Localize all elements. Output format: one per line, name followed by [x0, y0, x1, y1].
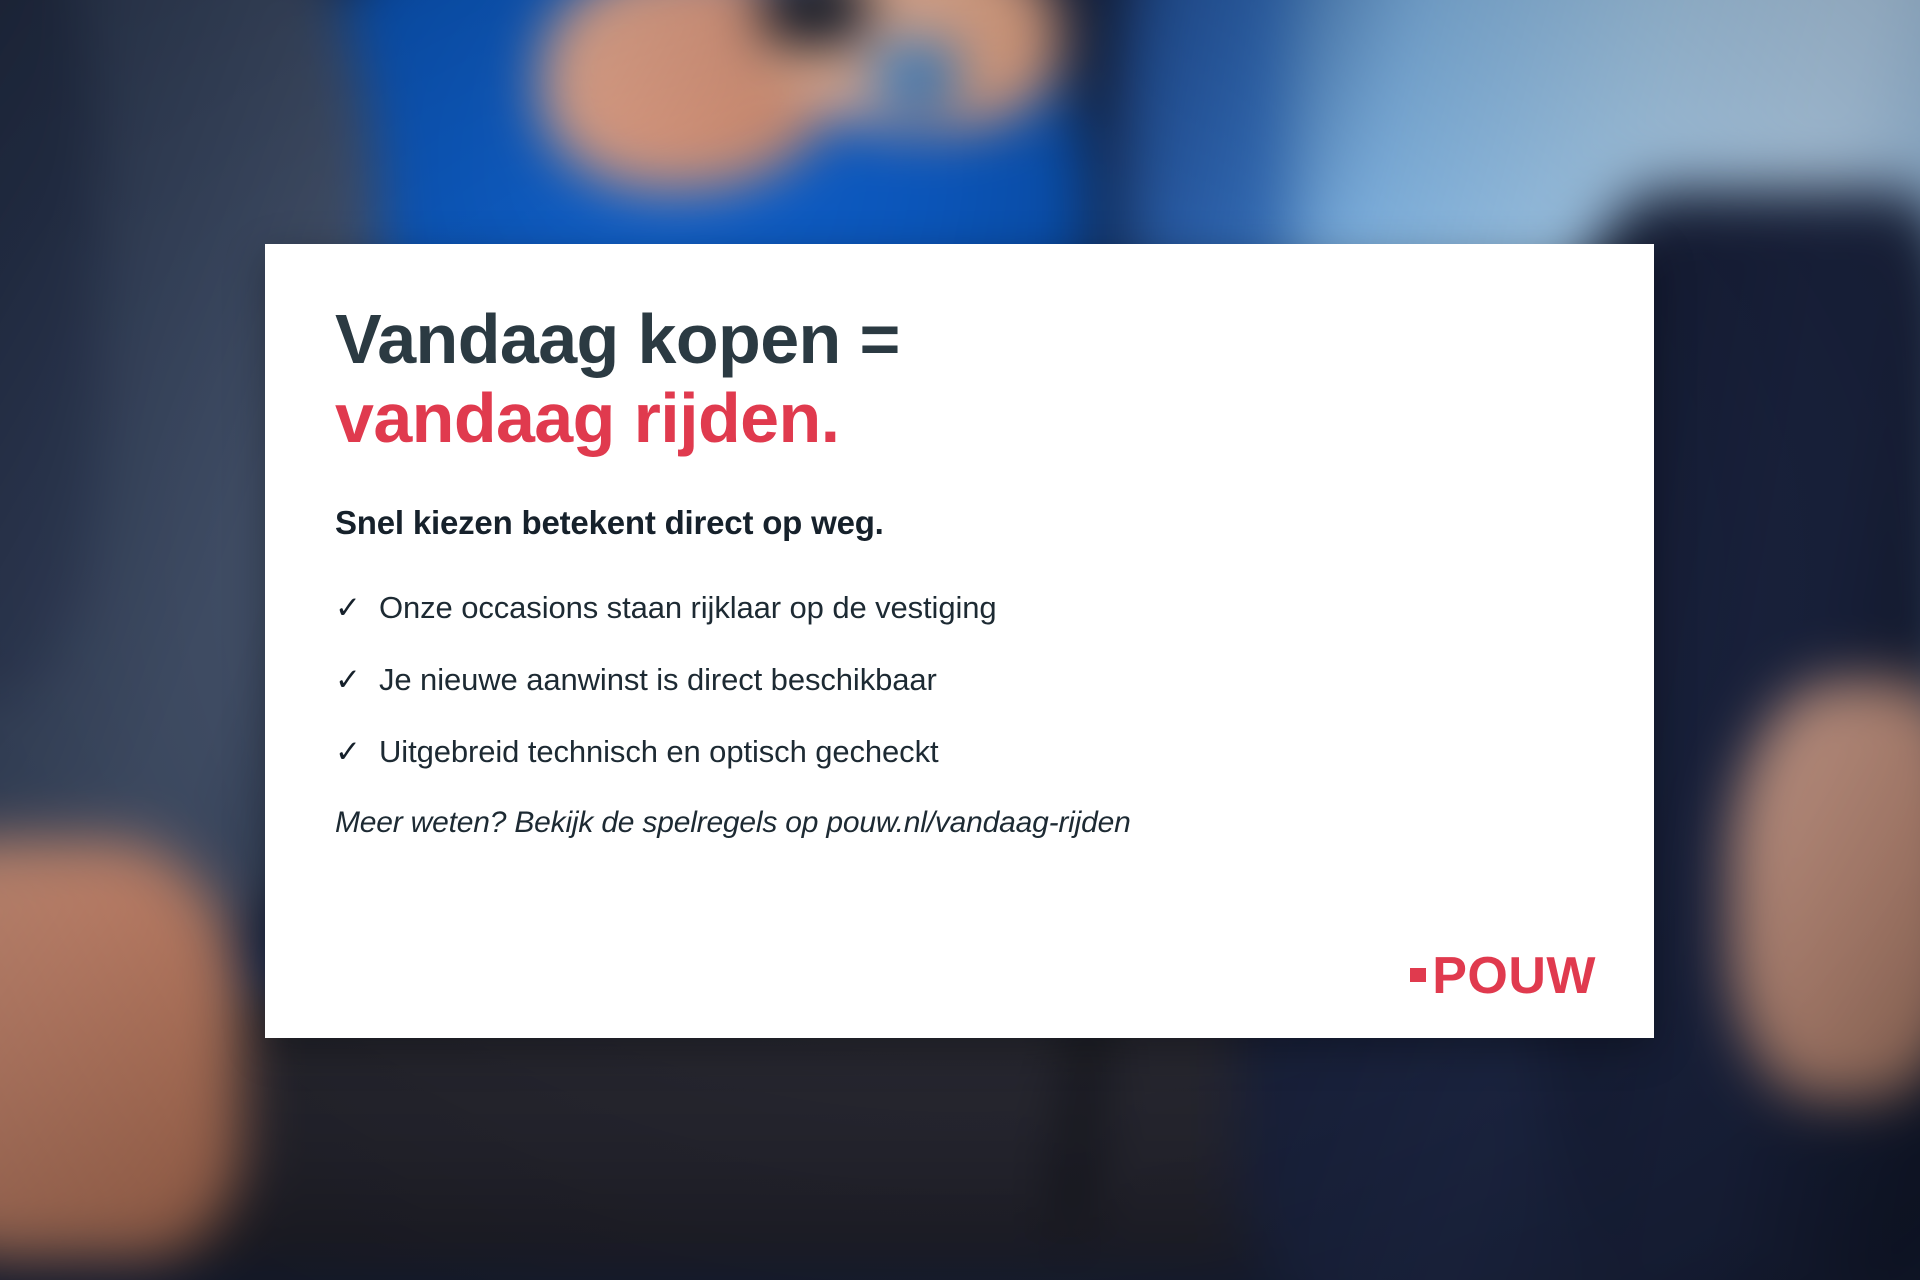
benefits-list: ✓ Onze occasions staan rijklaar op de ve…: [335, 590, 1584, 770]
check-icon: ✓: [335, 662, 379, 698]
list-item-label: Uitgebreid technisch en optisch gecheckt: [379, 734, 939, 770]
list-item: ✓ Onze occasions staan rijklaar op de ve…: [335, 590, 1584, 626]
footnote-link[interactable]: Meer weten? Bekijk de spelregels op pouw…: [335, 806, 1584, 840]
headline-line-2: vandaag rijden.: [335, 383, 1584, 454]
check-icon: ✓: [335, 590, 379, 626]
promo-card: Vandaag kopen = vandaag rijden. Snel kie…: [265, 244, 1654, 1038]
advertisement-banner: Vandaag kopen = vandaag rijden. Snel kie…: [0, 0, 1920, 1280]
list-item: ✓ Je nieuwe aanwinst is direct beschikba…: [335, 662, 1584, 698]
logo-wordmark: POUW: [1432, 950, 1596, 1002]
headline-line-1: Vandaag kopen =: [335, 300, 900, 378]
pouw-logo[interactable]: POUW: [1410, 950, 1596, 1002]
logo-dash-icon: [1410, 968, 1426, 982]
list-item: ✓ Uitgebreid technisch en optisch gechec…: [335, 734, 1584, 770]
list-item-label: Je nieuwe aanwinst is direct beschikbaar: [379, 662, 937, 698]
page-title: Vandaag kopen = vandaag rijden.: [335, 304, 1584, 455]
list-item-label: Onze occasions staan rijklaar op de vest…: [379, 590, 997, 626]
check-icon: ✓: [335, 734, 379, 770]
subheading: Snel kiezen betekent direct op weg.: [335, 504, 1584, 542]
